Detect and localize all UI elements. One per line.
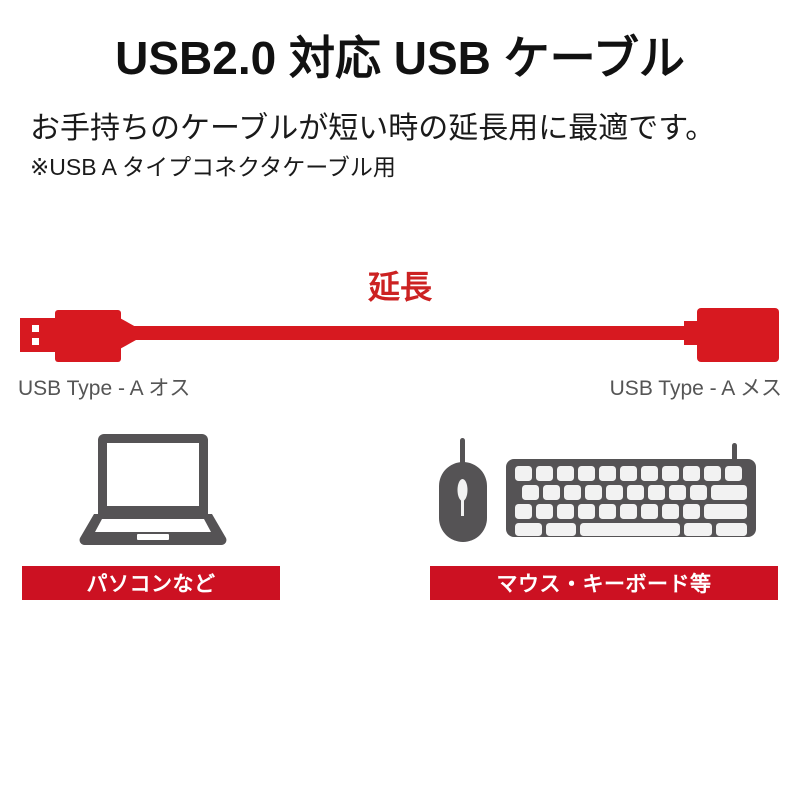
male-connector-body (55, 310, 121, 362)
male-tip-notch-bottom (32, 338, 39, 345)
mouse-icon (434, 438, 494, 546)
laptop-icon (78, 434, 228, 546)
usb-extension-cable-graphic (0, 300, 800, 370)
caption-bar-left-label: パソコンなど (87, 568, 216, 598)
keyboard-icon (504, 443, 766, 543)
cable-wire (108, 326, 698, 340)
keyboard-key-row-2 (522, 485, 747, 500)
male-tip-notch-top (32, 325, 39, 332)
laptop-screen-display (107, 443, 199, 506)
female-socket-body (697, 308, 779, 362)
usb-type-a-female-connector (684, 308, 779, 362)
keyboard-key-row-3 (515, 504, 747, 519)
male-strain-relief (118, 317, 136, 350)
page-title: USB2.0 対応 USB ケーブル (0, 22, 800, 88)
mouse-button-divider (461, 498, 464, 516)
subtitle-line-1: お手持ちのケーブルが短い時の延長用に最適です。 (30, 103, 775, 147)
mouse-scroll-wheel (458, 479, 468, 501)
laptop-trackpad (137, 534, 169, 540)
connector-label-right: USB Type - A メス (610, 372, 782, 402)
caption-bar-right-label: マウス・キーボード等 (497, 568, 712, 598)
caption-bar-left: パソコンなど (22, 566, 280, 600)
usb-type-a-male-connector (20, 310, 136, 362)
poster-canvas: USB2.0 対応 USB ケーブル お手持ちのケーブルが短い時の延長用に最適で… (0, 0, 800, 800)
connector-label-left: USB Type - A オス (18, 372, 190, 402)
laptop-keyboard-plane (95, 519, 211, 532)
subtitle-line-2: ※USB A タイプコネクタケーブル用 (30, 148, 396, 182)
caption-bar-right: マウス・キーボード等 (430, 566, 778, 600)
keyboard-key-row-1 (515, 466, 742, 481)
